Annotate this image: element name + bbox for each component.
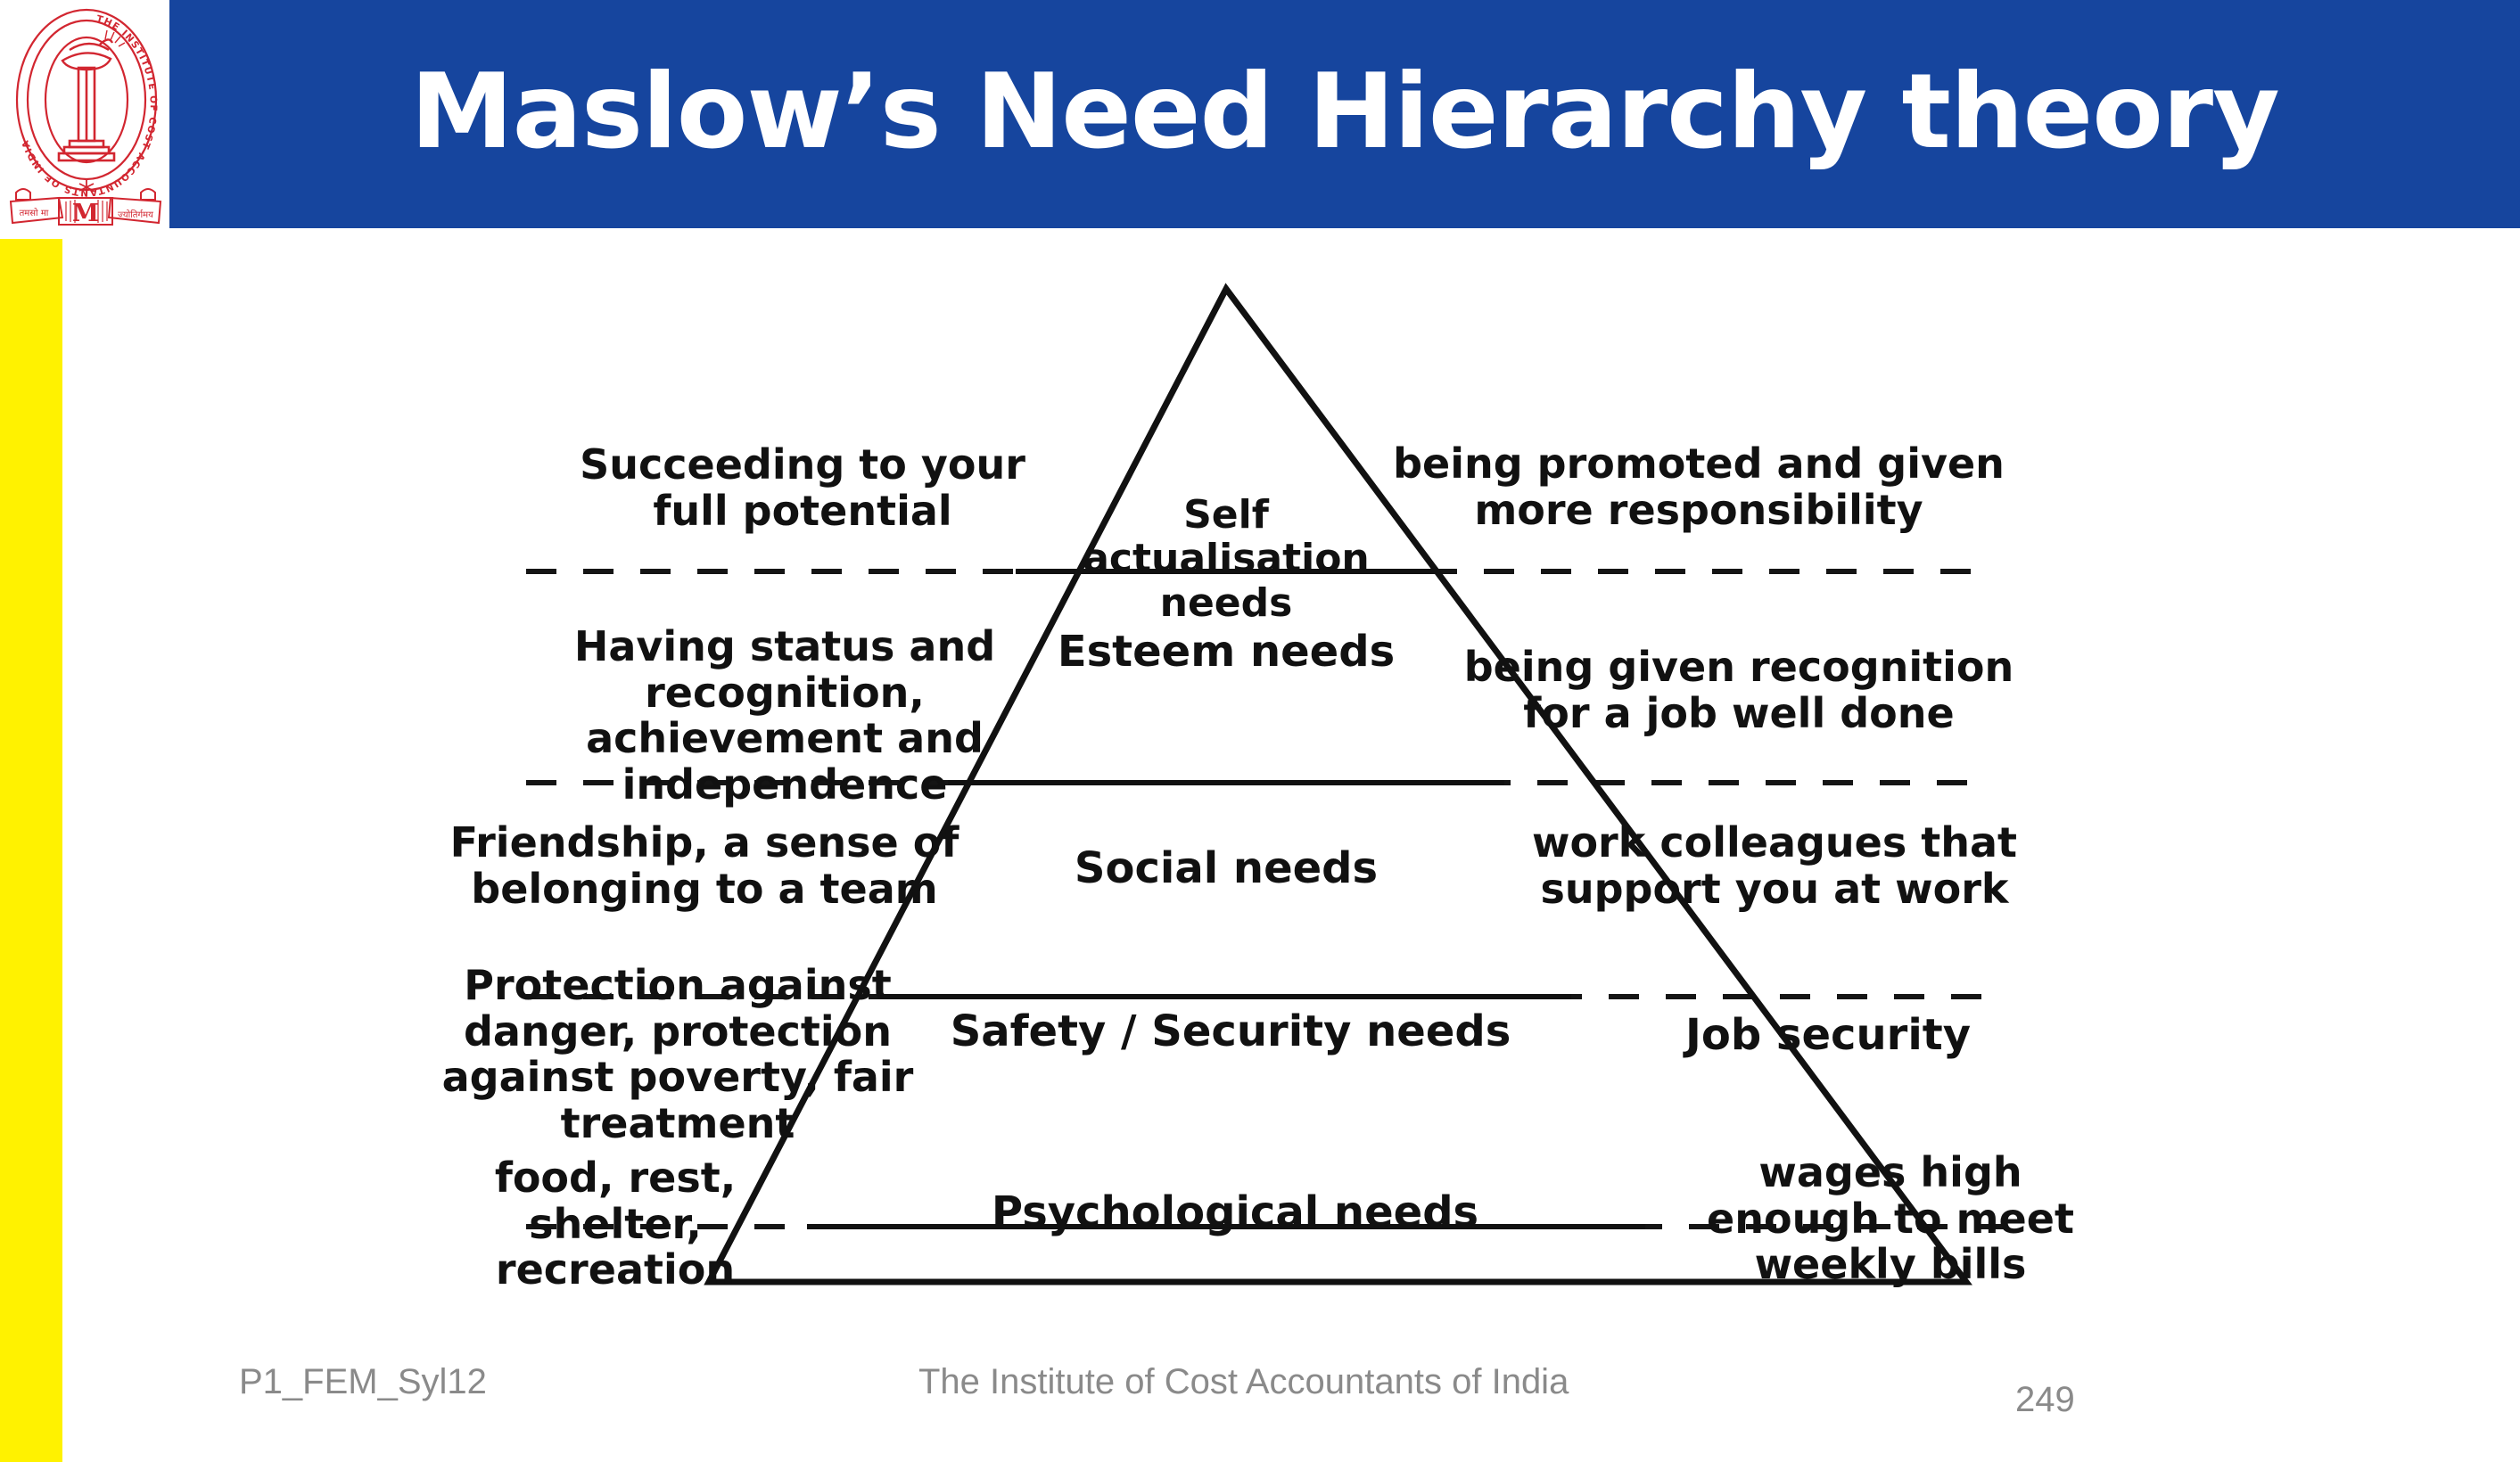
pyramid-level-3-inner-label: Social needs bbox=[990, 845, 1462, 893]
pyramid-level-2-right-label: being given recognition for a job well d… bbox=[1427, 645, 2051, 736]
svg-text:THE INSTITUTE OF COST ACCOUNTA: THE INSTITUTE OF COST ACCOUNTANTS OF IND… bbox=[20, 13, 159, 198]
pyramid-level-1-right-label: being promoted and given more responsibi… bbox=[1387, 441, 2011, 533]
pyramid-level-5-right-label: wages high enough to meet weekly bills bbox=[1641, 1150, 2140, 1288]
pyramid-level-1-left-label: Succeeding to your full potential bbox=[553, 442, 1052, 534]
slide-canvas: THE INSTITUTE OF COST ACCOUNTANTS OF IND… bbox=[0, 0, 2520, 1462]
pyramid-level-5-left-label: food, rest, shelter, recreation bbox=[428, 1155, 803, 1294]
pyramid-level-4-inner-label: Safety / Security needs bbox=[918, 1008, 1543, 1056]
pyramid-level-1-inner-label: Self actualisation needs bbox=[1025, 493, 1427, 625]
pyramid-level-4-left-label: Protection against danger, protection ag… bbox=[401, 963, 954, 1146]
institute-logo: THE INSTITUTE OF COST ACCOUNTANTS OF IND… bbox=[7, 4, 166, 234]
footer-syllabus-code: P1_FEM_Syl12 bbox=[239, 1362, 487, 1402]
svg-text:तमसो मा: तमसो मा bbox=[20, 208, 49, 218]
svg-text:ज्योतिर्गमय: ज्योतिर्गमय bbox=[118, 209, 153, 220]
pyramid-level-3-right-label: work colleagues that support you at work bbox=[1516, 820, 2033, 912]
pyramid-level-4-right-label: Job security bbox=[1596, 1012, 2060, 1060]
pyramid-level-3-left-label: Friendship, a sense of belonging to a te… bbox=[428, 820, 981, 912]
svg-text:M: M bbox=[72, 200, 99, 227]
page-title: Maslow’s Need Hierarchy theory bbox=[169, 0, 2520, 228]
footer-institute-name: The Institute of Cost Accountants of Ind… bbox=[918, 1362, 1569, 1402]
footer-page-number: 249 bbox=[2015, 1380, 2075, 1420]
pyramid-level-2-inner-label: Esteem needs bbox=[990, 628, 1462, 677]
pyramid-level-2-left-label: Having status and recognition, achieveme… bbox=[553, 624, 1017, 808]
pyramid-level-5-inner-label: Psychological needs bbox=[950, 1189, 1520, 1237]
maslow-pyramid-diagram bbox=[0, 228, 2520, 1334]
